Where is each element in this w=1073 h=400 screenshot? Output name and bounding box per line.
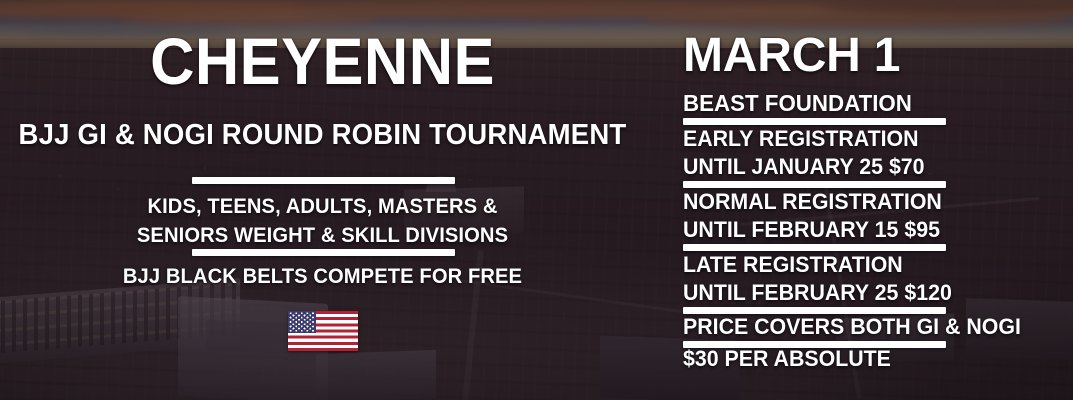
organization-name: BEAST FOUNDATION [683, 89, 912, 117]
flag-canton [288, 311, 316, 333]
divisions-line-2: SENIORS WEIGHT & SKILL DIVISIONS [13, 221, 632, 250]
divider-rule [683, 244, 946, 251]
divider-rule [683, 118, 946, 125]
tier-detail-normal: UNTIL FEBRUARY 15 $95 [683, 216, 940, 243]
city-title: CHEYENNE [23, 26, 623, 96]
tier-detail-late: UNTIL FEBRUARY 25 $120 [683, 279, 952, 306]
us-flag-icon [288, 311, 358, 351]
left-column: CHEYENNE BJJ GI & NOGI ROUND ROBIN TOURN… [0, 0, 645, 400]
divisions-line-1: KIDS, TEENS, ADULTS, MASTERS & [13, 192, 632, 221]
divider-rule [683, 181, 946, 188]
tier-name-normal: NORMAL REGISTRATION [683, 188, 942, 215]
divider-rule [192, 177, 455, 184]
event-date-title: MARCH 1 [683, 30, 900, 82]
right-column: MARCH 1 BEAST FOUNDATION EARLY REGISTRAT… [683, 0, 1073, 400]
divider-rule [192, 249, 455, 256]
event-subtitle: BJJ GI & NOGI ROUND ROBIN TOURNAMENT [16, 118, 629, 152]
absolute-fee: $30 PER ABSOLUTE [683, 345, 891, 372]
event-poster: CHEYENNE BJJ GI & NOGI ROUND ROBIN TOURN… [0, 0, 1073, 400]
flag-stars [288, 311, 316, 333]
tier-detail-early: UNTIL JANUARY 25 $70 [683, 153, 925, 180]
tier-name-early: EARLY REGISTRATION [683, 125, 919, 152]
divisions-block: KIDS, TEENS, ADULTS, MASTERS & SENIORS W… [13, 192, 632, 250]
black-belt-free-note: BJJ BLACK BELTS COMPETE FOR FREE [13, 263, 632, 290]
price-coverage-note: PRICE COVERS BOTH GI & NOGI [683, 313, 1021, 340]
tier-name-late: LATE REGISTRATION [683, 251, 903, 278]
poster-content: CHEYENNE BJJ GI & NOGI ROUND ROBIN TOURN… [0, 0, 1073, 400]
